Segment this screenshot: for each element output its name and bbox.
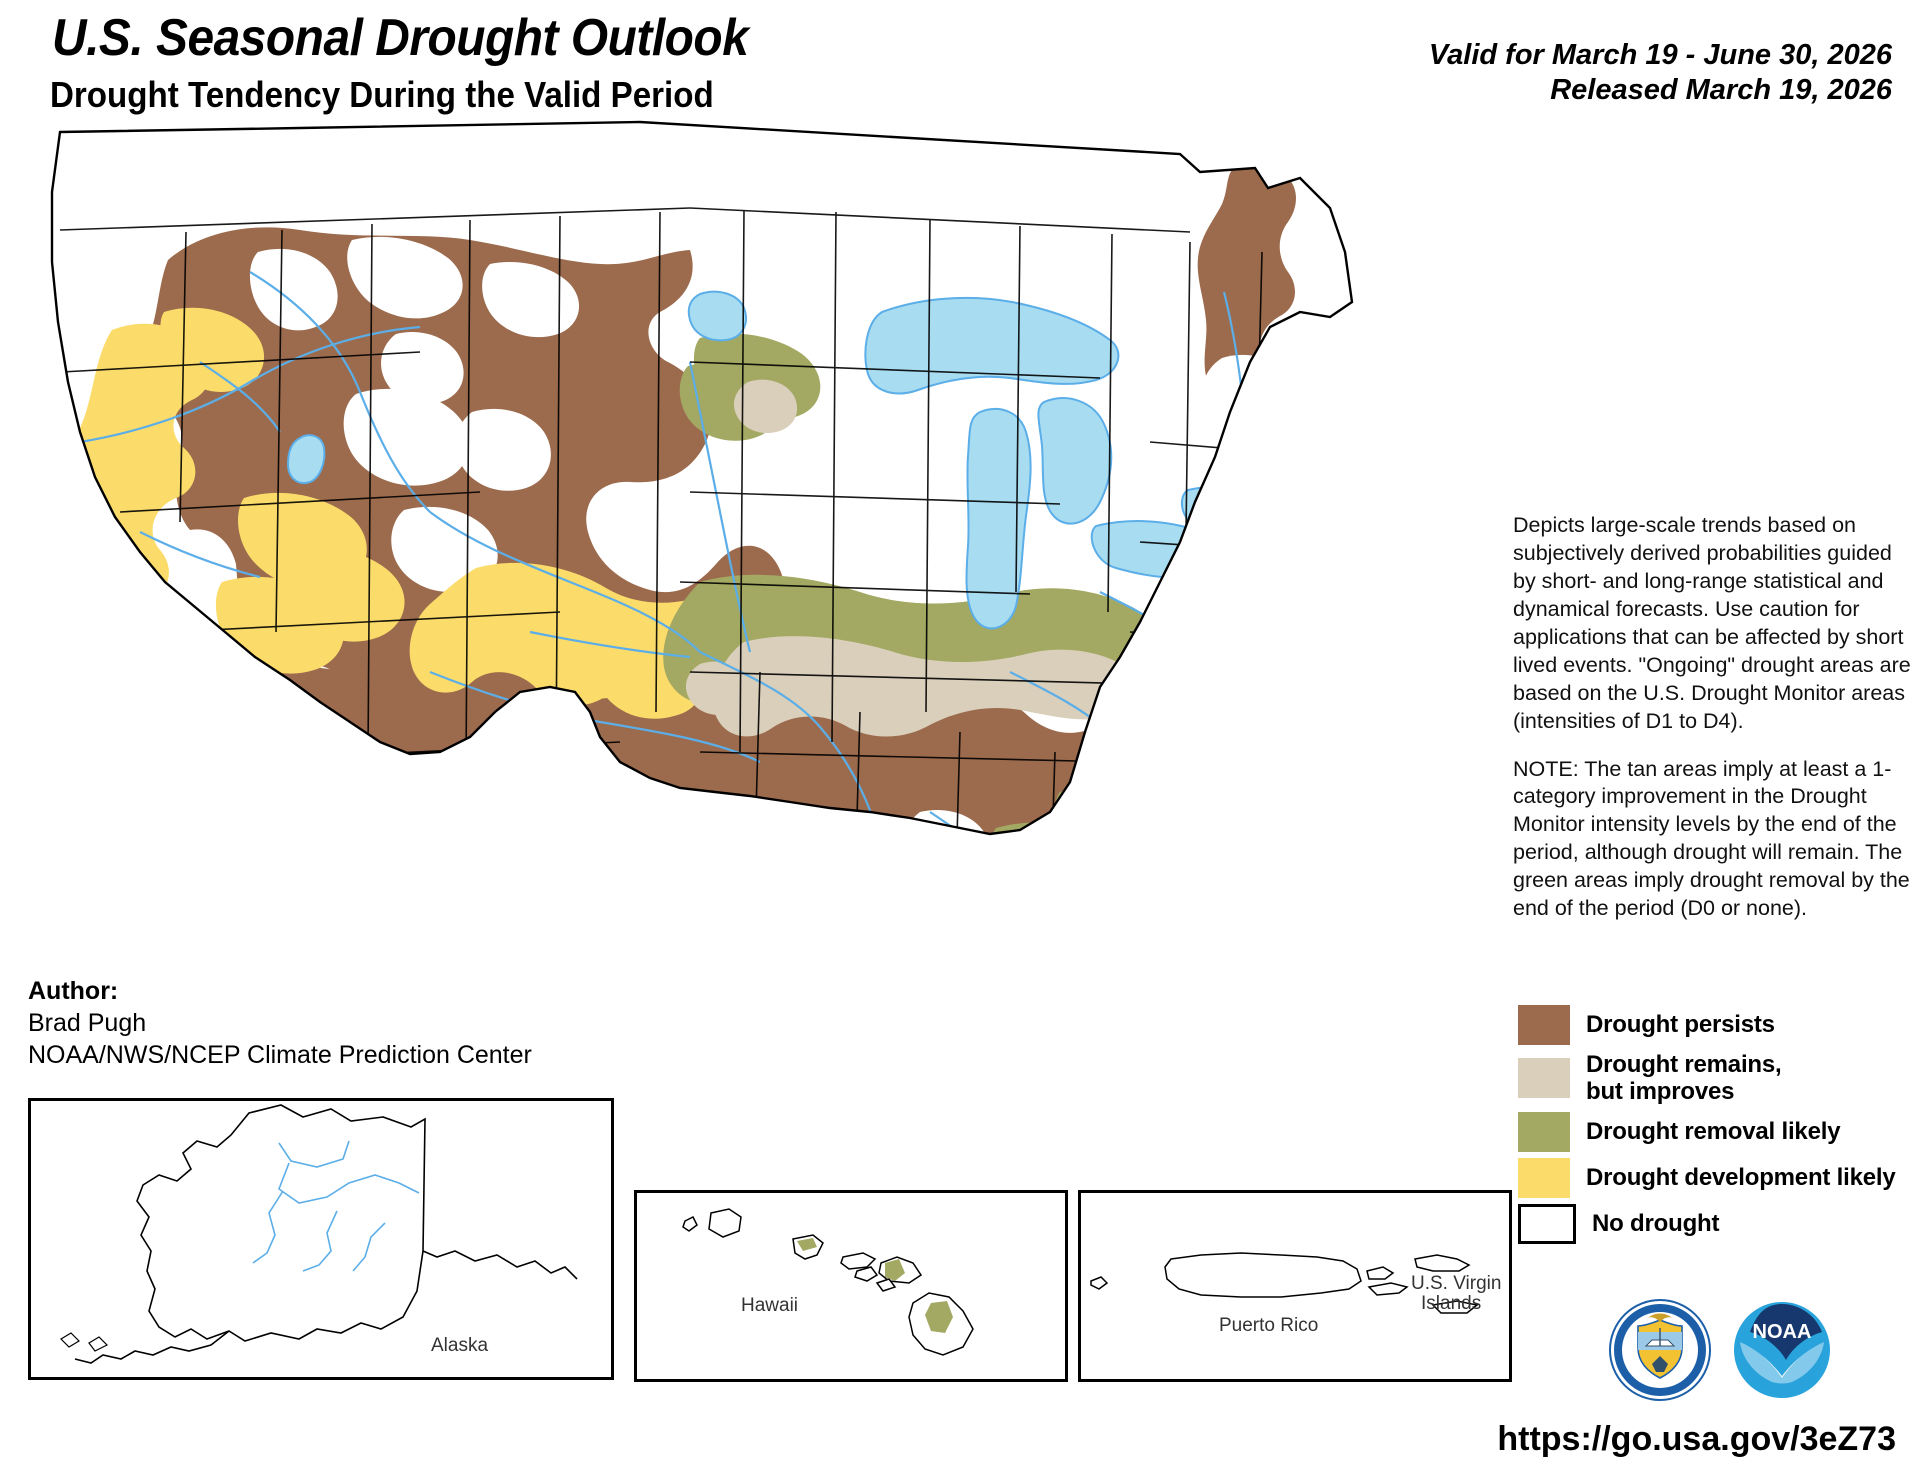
description-block: Depicts large-scale trends based on subj…: [1513, 512, 1913, 943]
map-base-layer: [0, 112, 1500, 1032]
legend-swatch-remains-improves: [1518, 1058, 1570, 1098]
legend-swatch-persists: [1518, 1005, 1570, 1045]
author-block: Author: Brad Pugh NOAA/NWS/NCEP Climate …: [28, 975, 532, 1071]
conus-drought-map: [0, 112, 1500, 1032]
author-affiliation: NOAA/NWS/NCEP Climate Prediction Center: [28, 1039, 532, 1071]
agency-logos: NOAA: [1608, 1298, 1834, 1402]
legend-item-remains-improves: Drought remains, but improves: [1518, 1051, 1918, 1106]
legend-label-removal-likely: Drought removal likely: [1586, 1118, 1840, 1145]
noaa-wordmark: NOAA: [1753, 1321, 1812, 1343]
puerto-rico-inset-label: Puerto Rico: [1219, 1315, 1318, 1336]
puerto-rico-inset: Puerto Rico U.S. Virgin Islands: [1078, 1190, 1512, 1382]
author-name: Brad Pugh: [28, 1007, 532, 1039]
legend-item-no-drought: No drought: [1518, 1204, 1918, 1244]
hawaii-map: Hawaii: [637, 1193, 1065, 1379]
legend-item-development-likely: Drought development likely: [1518, 1158, 1918, 1198]
description-paragraph-2: NOTE: The tan areas imply at least a 1-c…: [1513, 756, 1913, 924]
legend-label-remains-improves: Drought remains, but improves: [1586, 1051, 1782, 1106]
department-of-commerce-seal-icon: [1608, 1298, 1712, 1402]
short-url: https://go.usa.gov/3eZ73: [1497, 1420, 1896, 1459]
hawaii-inset-label: Hawaii: [741, 1295, 798, 1316]
legend-label-no-drought: No drought: [1592, 1210, 1719, 1237]
author-heading: Author:: [28, 975, 532, 1007]
released-text: Released March 19, 2026: [1429, 73, 1892, 108]
page-title: U.S. Seasonal Drought Outlook: [52, 8, 748, 68]
usvi-inset-label-line2: Islands: [1421, 1293, 1481, 1314]
alaska-inset-label: Alaska: [431, 1335, 488, 1356]
legend-label-development-likely: Drought development likely: [1586, 1164, 1896, 1191]
legend-label-persists: Drought persists: [1586, 1011, 1775, 1038]
puerto-rico-map: Puerto Rico U.S. Virgin Islands: [1081, 1193, 1509, 1379]
alaska-map: Alaska: [31, 1101, 611, 1377]
legend-item-persists: Drought persists: [1518, 1005, 1918, 1045]
usvi-inset-label-line1: U.S. Virgin: [1411, 1273, 1501, 1294]
page-subtitle: Drought Tendency During the Valid Period: [50, 74, 714, 116]
legend-swatch-removal-likely: [1518, 1112, 1570, 1152]
noaa-logo-icon: NOAA: [1730, 1298, 1834, 1402]
hawaii-inset: Hawaii: [634, 1190, 1068, 1382]
legend-swatch-development-likely: [1518, 1158, 1570, 1198]
legend-item-removal-likely: Drought removal likely: [1518, 1112, 1918, 1152]
validity-block: Valid for March 19 - June 30, 2026 Relea…: [1429, 38, 1892, 109]
drought-outlook-page: U.S. Seasonal Drought Outlook Drought Te…: [0, 0, 1920, 1484]
legend-swatch-no-drought: [1518, 1204, 1576, 1244]
alaska-inset: Alaska: [28, 1098, 614, 1380]
map-legend: Drought persists Drought remains, but im…: [1518, 1005, 1918, 1250]
valid-for-text: Valid for March 19 - June 30, 2026: [1429, 38, 1892, 73]
description-paragraph-1: Depicts large-scale trends based on subj…: [1513, 512, 1913, 736]
